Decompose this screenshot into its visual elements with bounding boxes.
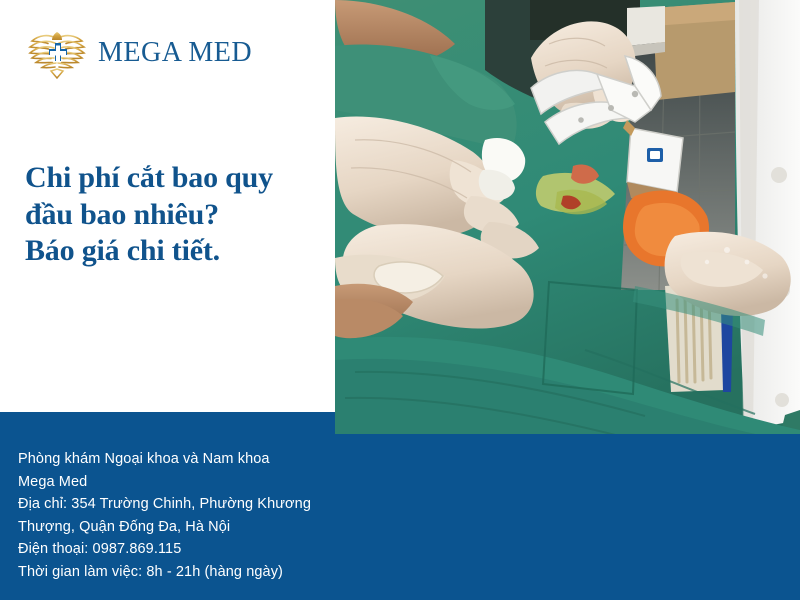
footer-line-clinic-2: Mega Med	[18, 471, 348, 494]
clinic-contact-block: Phòng khám Ngoại khoa và Nam khoa Mega M…	[18, 448, 348, 584]
footer-line-phone: Điện thoại: 0987.869.115	[18, 538, 348, 561]
footer-line-address-1: Địa chỉ: 354 Trường Chinh, Phường Khương	[18, 493, 348, 516]
left-content-panel: MEGA MED Chi phí cắt bao quy đầu bao nhi…	[0, 0, 335, 435]
promo-banner: MEGA MED Chi phí cắt bao quy đầu bao nhi…	[0, 0, 800, 600]
headline-line-3: Báo giá chi tiết.	[25, 233, 325, 270]
headline-line-1: Chi phí cắt bao quy	[25, 160, 325, 197]
footer-left-extension	[0, 412, 335, 434]
brand-wordmark: MEGA MED	[98, 39, 252, 69]
footer-line-hours: Thời gian làm việc: 8h - 21h (hàng ngày)	[18, 561, 348, 584]
footer-line-clinic-1: Phòng khám Ngoại khoa và Nam khoa	[18, 448, 348, 471]
surgical-procedure-photo	[335, 0, 800, 456]
brand-logo[interactable]: MEGA MED	[26, 28, 252, 80]
footer-line-address-2: Thượng, Quận Đống Đa, Hà Nội	[18, 516, 348, 539]
headline-line-2: đầu bao nhiêu?	[25, 197, 325, 234]
contact-footer: Phòng khám Ngoại khoa và Nam khoa Mega M…	[0, 434, 800, 600]
page-title: Chi phí cắt bao quy đầu bao nhiêu? Báo g…	[25, 160, 325, 270]
winged-medical-cross-icon	[26, 28, 88, 80]
